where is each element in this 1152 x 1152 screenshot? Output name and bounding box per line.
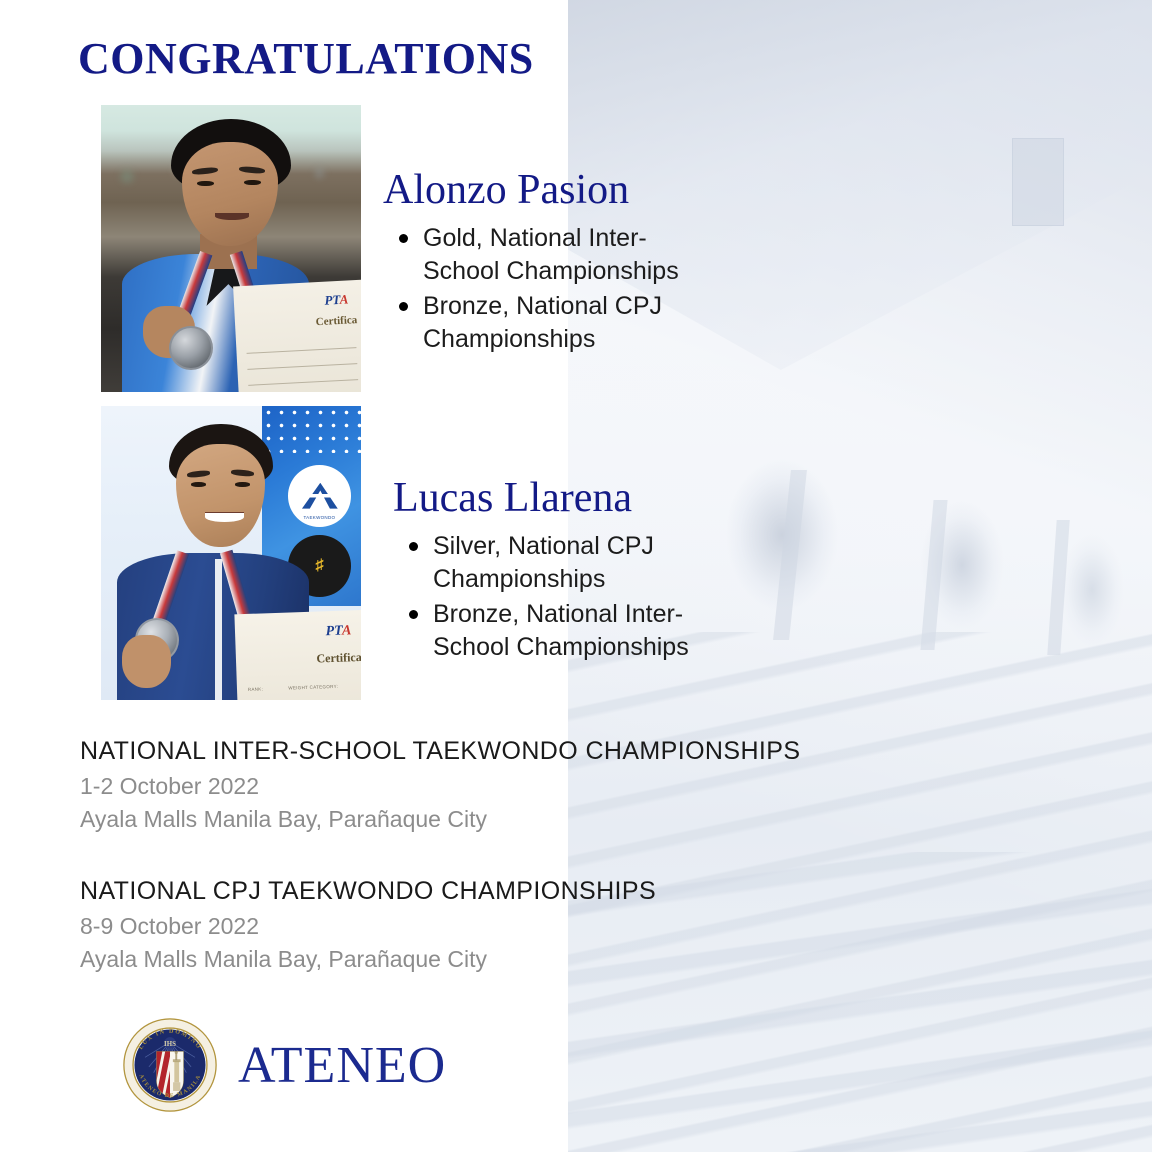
event-date: 1-2 October 2022	[80, 773, 800, 800]
athlete-name-lucas-llarena: Lucas Llarena	[393, 474, 632, 522]
achievements-alonzo-pasion: Gold, National Inter-School Championship…	[385, 222, 705, 357]
athlete-name-alonzo-pasion: Alonzo Pasion	[383, 166, 629, 214]
event-venue: Ayala Malls Manila Bay, Parañaque City	[80, 806, 800, 833]
athlete-photo-lucas-llarena: TAEKWONDO ♯ PTA Certificat RANK: WEIGHT …	[101, 406, 361, 700]
achievements-lucas-llarena: Silver, National CPJ Championships Bronz…	[395, 530, 705, 665]
svg-text:IHS: IHS	[164, 1041, 176, 1048]
achievement-item: Silver, National CPJ Championships	[395, 530, 705, 597]
page-title: CONGRATULATIONS	[78, 33, 534, 84]
ateneo-wordmark: ATENEO	[238, 1036, 446, 1095]
taekwondo-logo-icon: TAEKWONDO	[288, 465, 350, 527]
ateneo-de-manila-seal-icon: IHS	[122, 1017, 218, 1113]
congratulations-poster: CONGRATULATIONS PTA Certifica	[0, 0, 1152, 1152]
brand-lockup: IHS	[122, 1017, 446, 1113]
certificate-photo1: PTA Certifica	[233, 280, 361, 392]
event-venue: Ayala Malls Manila Bay, Parañaque City	[80, 946, 656, 973]
event-title: NATIONAL CPJ TAEKWONDO CHAMPIONSHIPS	[80, 877, 656, 906]
event-title: NATIONAL INTER-SCHOOL TAEKWONDO CHAMPION…	[80, 737, 800, 766]
event-block-inter-school: NATIONAL INTER-SCHOOL TAEKWONDO CHAMPION…	[80, 737, 800, 833]
event-block-cpj: NATIONAL CPJ TAEKWONDO CHAMPIONSHIPS 8-9…	[80, 877, 656, 973]
achievement-item: Bronze, National CPJ Championships	[385, 290, 705, 357]
certificate-photo2: PTA Certificat RANK: WEIGHT CATEGORY:	[235, 609, 361, 700]
event-date: 8-9 October 2022	[80, 913, 656, 940]
achievement-item: Gold, National Inter-School Championship…	[385, 222, 705, 289]
athlete-photo-alonzo-pasion: PTA Certifica	[101, 105, 361, 392]
background-window	[1012, 138, 1064, 226]
achievement-item: Bronze, National Inter-School Championsh…	[395, 598, 705, 665]
